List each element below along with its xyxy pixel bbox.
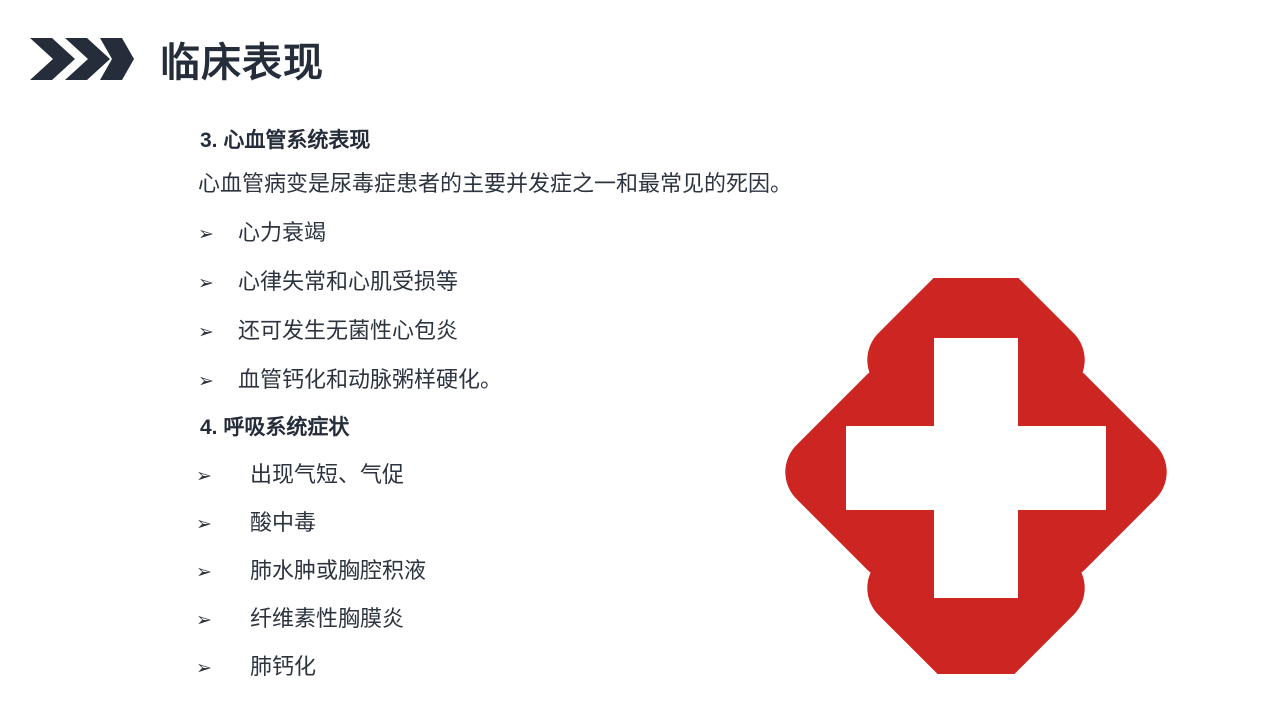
slide-header: 临床表现 [0,0,1280,118]
arrow-bullet-icon: ➢ [196,515,250,534]
medical-cross-logo [780,278,1172,674]
list-item: ➢ 心律失常和心肌受损等 [196,271,816,293]
list-item-label: 酸中毒 [250,512,316,534]
list-item: ➢ 纤维素性胸膜炎 [196,608,816,630]
bullet-list-respiratory: ➢ 出现气短、气促 ➢ 酸中毒 ➢ 肺水肿或胸腔积液 ➢ 纤维素性胸膜炎 ➢ 肺… [196,464,816,678]
section-paragraph-cardiovascular: 心血管病变是尿毒症患者的主要并发症之一和最常见的死因。 [198,173,816,195]
section-cardiovascular: 3. 心血管系统表现 心血管病变是尿毒症患者的主要并发症之一和最常见的死因。 ➢… [196,130,816,391]
list-item-label: 肺钙化 [250,656,316,678]
chevron-arrows-icon [28,36,136,82]
list-item: ➢ 还可发生无菌性心包炎 [196,320,816,342]
page-title: 临床表现 [160,30,324,88]
arrow-bullet-icon: ➢ [198,372,238,391]
arrow-bullet-icon: ➢ [196,563,250,582]
list-item-label: 肺水肿或胸腔积液 [250,560,426,582]
clover-petals [780,278,1172,674]
arrow-bullet-icon: ➢ [198,274,238,293]
arrow-bullet-icon: ➢ [196,467,250,486]
bullet-list-cardiovascular: ➢ 心力衰竭 ➢ 心律失常和心肌受损等 ➢ 还可发生无菌性心包炎 ➢ 血管钙化和… [196,222,816,391]
arrow-bullet-icon: ➢ [196,611,250,630]
arrow-bullet-icon: ➢ [198,323,238,342]
list-item-label: 还可发生无菌性心包炎 [238,320,458,342]
list-item: ➢ 心力衰竭 [196,222,816,244]
list-item-label: 纤维素性胸膜炎 [250,608,404,630]
arrow-bullet-icon: ➢ [198,225,238,244]
list-item: ➢ 肺水肿或胸腔积液 [196,560,816,582]
section-heading-respiratory: 4. 呼吸系统症状 [200,417,816,438]
section-heading-cardiovascular: 3. 心血管系统表现 [200,130,816,151]
list-item-label: 心力衰竭 [238,222,326,244]
list-item: ➢ 肺钙化 [196,656,816,678]
list-item: ➢ 酸中毒 [196,512,816,534]
list-item: ➢ 出现气短、气促 [196,464,816,486]
slide-content: 3. 心血管系统表现 心血管病变是尿毒症患者的主要并发症之一和最常见的死因。 ➢… [196,130,816,678]
list-item-label: 血管钙化和动脉粥样硬化。 [238,369,502,391]
list-item: ➢ 血管钙化和动脉粥样硬化。 [196,369,816,391]
section-respiratory: 4. 呼吸系统症状 ➢ 出现气短、气促 ➢ 酸中毒 ➢ 肺水肿或胸腔积液 ➢ 纤… [196,417,816,678]
arrow-bullet-icon: ➢ [196,659,250,678]
list-item-label: 出现气短、气促 [250,464,404,486]
list-item-label: 心律失常和心肌受损等 [238,271,458,293]
